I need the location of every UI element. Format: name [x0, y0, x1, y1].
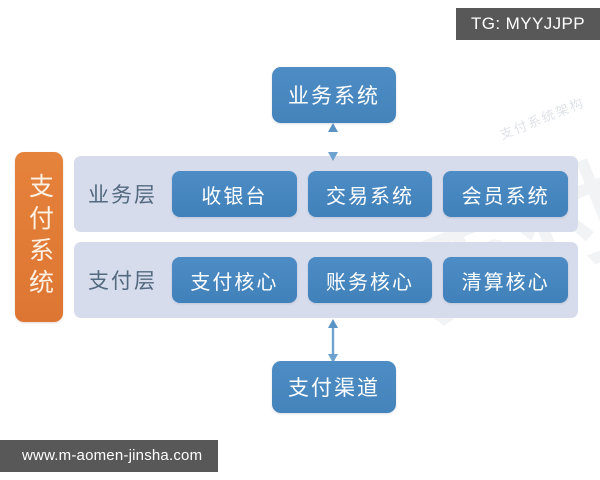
- node-cashier[interactable]: 收银台: [172, 171, 297, 217]
- node-payment-channel[interactable]: 支付渠道: [272, 361, 396, 413]
- node-clearing-core[interactable]: 清算核心: [443, 257, 568, 303]
- node-payment-core-label: 支付核心: [190, 266, 278, 295]
- arrow-top-icon: [318, 122, 348, 162]
- layer-payment-nodes: 支付核心 账务核心 清算核心: [172, 242, 568, 318]
- layer-payment: 支付层 支付核心 账务核心 清算核心: [74, 242, 578, 318]
- node-cashier-label: 收银台: [201, 180, 267, 209]
- layer-payment-label: 支付层: [88, 242, 157, 318]
- node-transaction-system[interactable]: 交易系统: [308, 171, 433, 217]
- node-member-system[interactable]: 会员系统: [443, 171, 568, 217]
- node-accounting-core-label: 账务核心: [326, 266, 414, 295]
- arrow-bottom-icon: [318, 318, 348, 364]
- node-business-system-label: 业务系统: [288, 80, 380, 110]
- tg-tag: TG: MYYJJPP: [456, 8, 600, 40]
- node-payment-channel-label: 支付渠道: [288, 372, 380, 402]
- layer-business: 业务层 收银台 交易系统 会员系统: [74, 156, 578, 232]
- layer-business-nodes: 收银台 交易系统 会员系统: [172, 156, 568, 232]
- diagram-canvas: 支付 支付系统架构 TG: MYYJJPP 业务系统 支付系统 业务层 收银台: [0, 0, 600, 480]
- node-member-system-label: 会员系统: [462, 180, 550, 209]
- node-business-system[interactable]: 业务系统: [272, 67, 396, 123]
- node-payment-core[interactable]: 支付核心: [172, 257, 297, 303]
- node-transaction-system-label: 交易系统: [326, 180, 414, 209]
- node-clearing-core-label: 清算核心: [462, 266, 550, 295]
- watermark-subtext: 支付系统架构: [497, 92, 588, 143]
- site-watermark-tag: www.m-aomen-jinsha.com: [0, 440, 218, 472]
- side-panel-payment-system[interactable]: 支付系统: [15, 152, 63, 322]
- side-panel-label: 支付系统: [27, 173, 52, 301]
- node-accounting-core[interactable]: 账务核心: [308, 257, 433, 303]
- layer-business-label: 业务层: [88, 156, 157, 232]
